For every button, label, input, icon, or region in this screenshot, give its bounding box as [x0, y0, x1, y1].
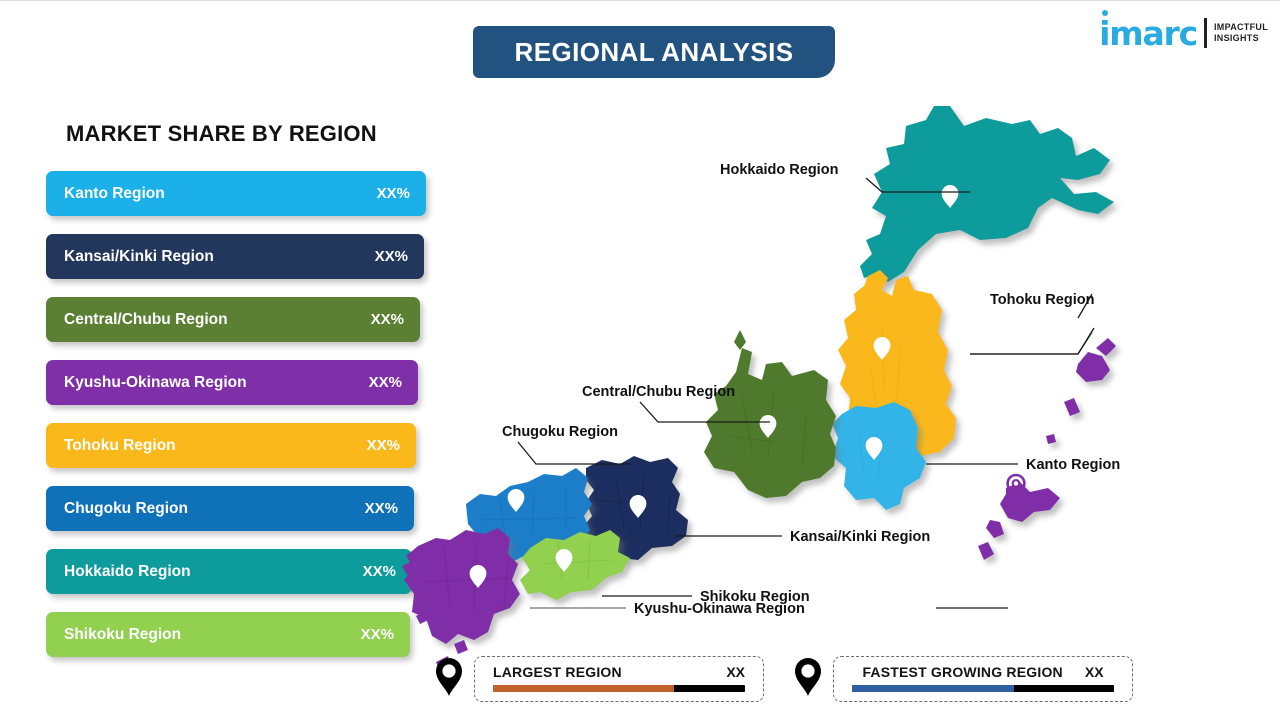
legend-row[interactable]: Hokkaido RegionXX% — [46, 549, 412, 594]
japan-region-map: Hokkaido Region Tohoku Region Kanto Regi… — [430, 96, 1150, 666]
legend-row-name: Chugoku Region — [64, 500, 188, 518]
map-region-chubu[interactable] — [704, 330, 836, 498]
fastest-region-title: FASTEST GROWING REGION — [862, 664, 1062, 680]
legend-row-share: XX% — [369, 374, 402, 391]
imarc-dot-icon — [1102, 10, 1108, 16]
map-label-tohoku-text: Tohoku Region — [990, 292, 1094, 308]
map-label-kyushu-okinawa: Kyushu-Okinawa Region — [530, 601, 1008, 617]
fastest-region-progress-fill — [852, 685, 1014, 692]
legend-row-list: Kanto RegionXX%Kansai/Kinki RegionXX%Cen… — [46, 171, 446, 657]
legend-row-share: XX% — [361, 626, 394, 643]
legend-row[interactable]: Kanto RegionXX% — [46, 171, 426, 216]
map-label-kyushu-okinawa-text: Kyushu-Okinawa Region — [634, 601, 805, 617]
legend-row-share: XX% — [367, 437, 400, 454]
legend-row-share: XX% — [375, 248, 408, 265]
map-label-tohoku: Tohoku Region — [970, 292, 1094, 354]
fastest-region-box: FASTEST GROWING REGION XX — [833, 656, 1133, 702]
map-label-kanto-text: Kanto Region — [1026, 457, 1120, 473]
logo-divider — [1204, 18, 1207, 48]
legend-row[interactable]: Kansai/Kinki RegionXX% — [46, 234, 424, 279]
largest-region-progress — [493, 685, 745, 692]
fastest-region-progress — [852, 685, 1114, 692]
map-label-kansai: Kansai/Kinki Region — [676, 529, 930, 545]
map-region-kanto[interactable] — [832, 402, 926, 510]
map-label-hokkaido-text: Hokkaido Region — [720, 162, 838, 178]
legend-row[interactable]: Central/Chubu RegionXX% — [46, 297, 420, 342]
largest-region-value: XX — [726, 664, 745, 680]
legend-row-name: Kanto Region — [64, 185, 165, 203]
map-label-kanto: Kanto Region — [926, 457, 1120, 473]
legend-row-share: XX% — [365, 500, 398, 517]
map-label-chubu-text: Central/Chubu Region — [582, 384, 735, 400]
largest-region-progress-fill — [493, 685, 674, 692]
legend-row-name: Kyushu-Okinawa Region — [64, 374, 247, 392]
legend-row-name: Kansai/Kinki Region — [64, 248, 214, 266]
fastest-region-badge[interactable]: FASTEST GROWING REGION XX — [793, 656, 1133, 702]
market-share-panel: MARKET SHARE BY REGION Kanto RegionXX%Ka… — [46, 121, 446, 675]
legend-row-share: XX% — [371, 311, 404, 328]
imarc-logo: imarc IMPACTFUL INSIGHTS — [1099, 15, 1268, 51]
imarc-wordmark: imarc — [1099, 17, 1197, 50]
legend-row-name: Tohoku Region — [64, 437, 176, 455]
logo-tagline: IMPACTFUL INSIGHTS — [1214, 22, 1268, 43]
legend-row[interactable]: Tohoku RegionXX% — [46, 423, 416, 468]
largest-region-badge[interactable]: LARGEST REGION XX — [434, 656, 764, 702]
legend-row-share: XX% — [363, 563, 396, 580]
largest-region-title: LARGEST REGION — [493, 664, 622, 680]
legend-row-share: XX% — [377, 185, 410, 202]
logo-tagline-line2: INSIGHTS — [1214, 33, 1268, 44]
legend-row-name: Shikoku Region — [64, 626, 181, 644]
logo-tagline-line1: IMPACTFUL — [1214, 22, 1268, 33]
map-pin-icon — [793, 657, 823, 702]
fastest-region-value: XX — [1085, 664, 1104, 680]
map-pin-icon — [434, 657, 464, 702]
map-label-chugoku: Chugoku Region — [502, 424, 630, 464]
page-title: REGIONAL ANALYSIS — [515, 37, 794, 68]
legend-row[interactable]: Chugoku RegionXX% — [46, 486, 414, 531]
legend-row-name: Hokkaido Region — [64, 563, 191, 581]
page-title-banner: REGIONAL ANALYSIS — [473, 26, 835, 78]
legend-row[interactable]: Kyushu-Okinawa RegionXX% — [46, 360, 418, 405]
map-label-chugoku-text: Chugoku Region — [502, 424, 618, 440]
imarc-wordmark-text: imarc — [1099, 14, 1197, 53]
legend-heading: MARKET SHARE BY REGION — [66, 121, 446, 147]
largest-region-box: LARGEST REGION XX — [474, 656, 764, 702]
map-label-kansai-text: Kansai/Kinki Region — [790, 529, 930, 545]
legend-row[interactable]: Shikoku RegionXX% — [46, 612, 410, 657]
legend-row-name: Central/Chubu Region — [64, 311, 228, 329]
